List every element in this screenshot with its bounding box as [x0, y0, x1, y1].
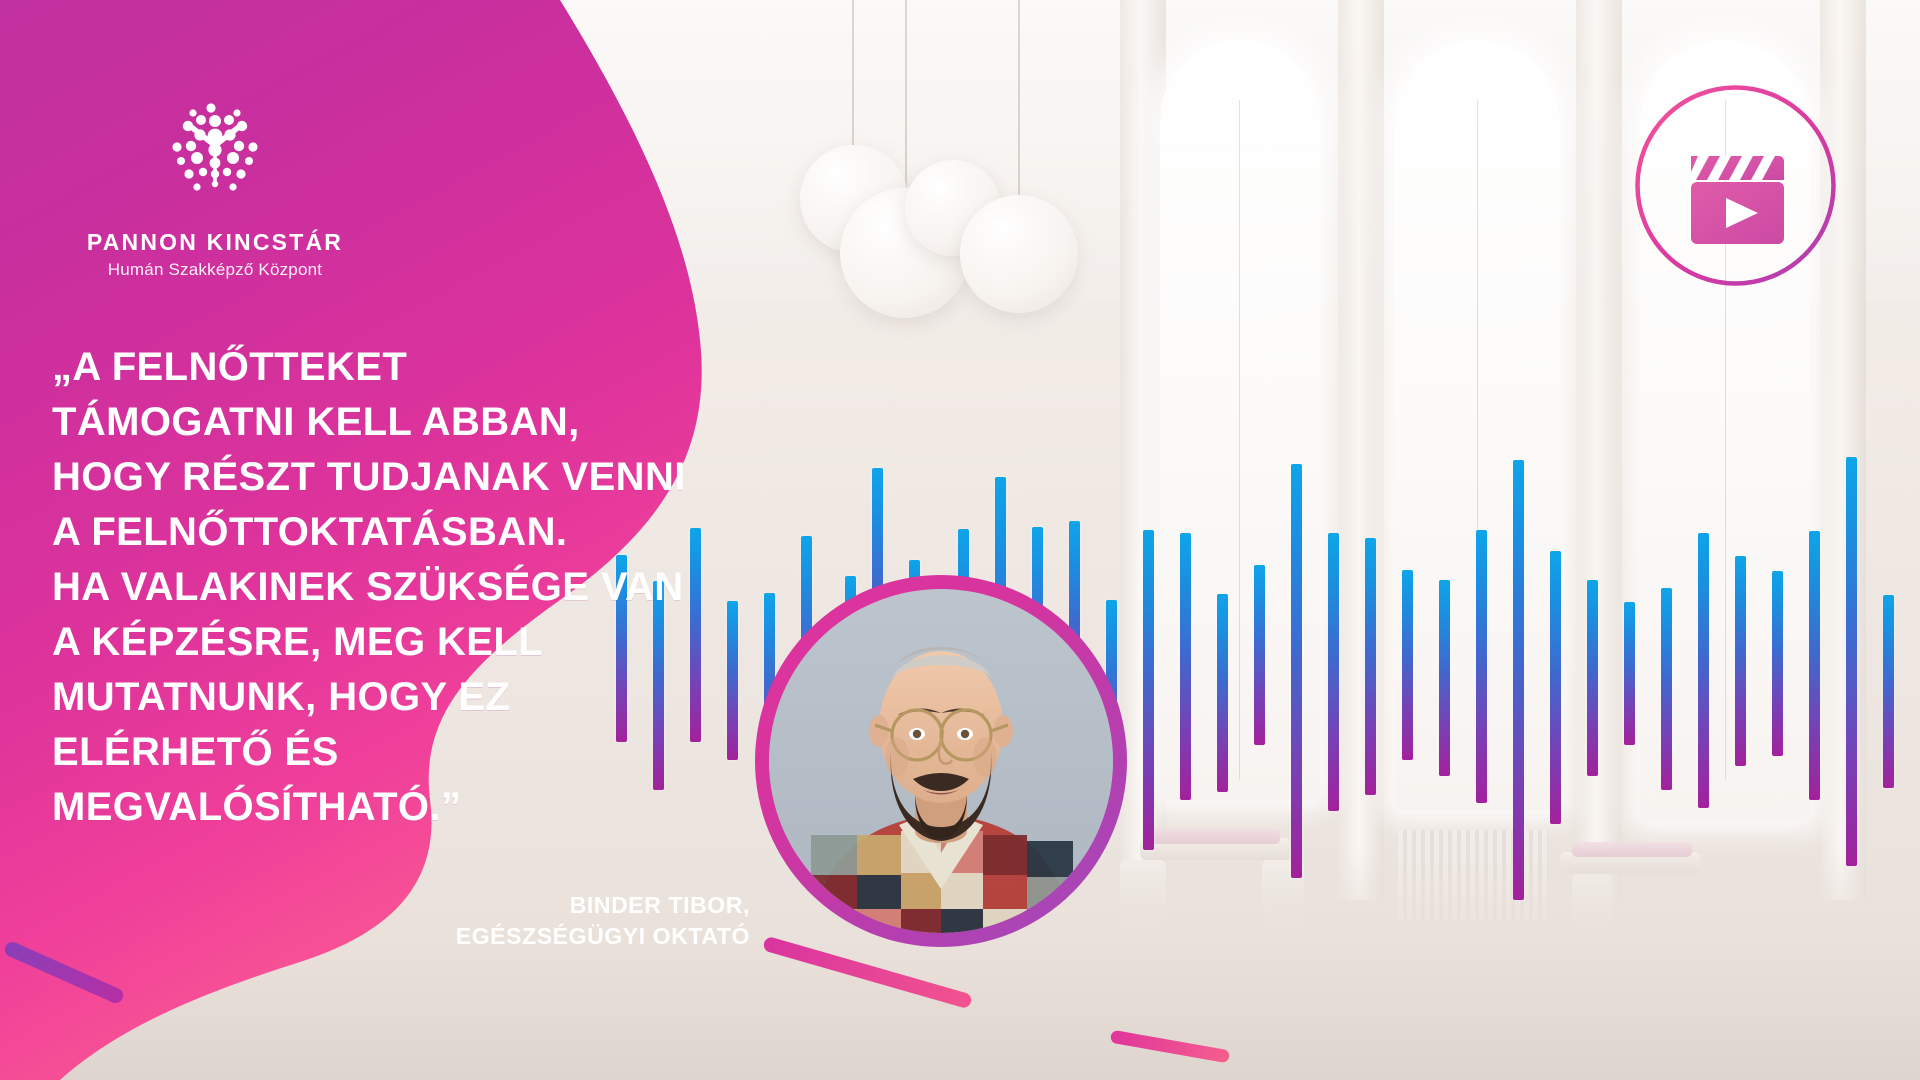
avatar-image-clip	[769, 589, 1113, 933]
waveform-bar	[1143, 530, 1154, 850]
waveform-bar	[1661, 588, 1672, 790]
quote-line: MEGVALÓSÍTHATÓ.”	[52, 780, 812, 835]
quote-line: A FELNŐTTOKTATÁSBAN.	[52, 505, 812, 560]
waveform-bar	[1883, 595, 1894, 788]
quote-line: TÁMOGATNI KELL ABBAN,	[52, 395, 812, 450]
quote-line: HOGY RÉSZT TUDJANAK VENNI	[52, 450, 812, 505]
video-badge[interactable]	[1628, 78, 1843, 293]
speaker-name: BINDER TIBOR,	[330, 890, 750, 921]
waveform-bar	[1291, 464, 1302, 878]
waveform-bar	[1809, 531, 1820, 800]
dandelion-tree-dots-logo-icon	[155, 95, 275, 215]
avatar	[755, 575, 1127, 947]
quote-line: „A FELNŐTTEKET	[52, 340, 812, 395]
presentation-slide: PANNON KINCSTÁR Humán Szakképző Központ …	[0, 0, 1920, 1080]
waveform-bar	[1365, 538, 1376, 795]
waveform-bar	[1587, 580, 1598, 776]
waveform-bar	[1402, 570, 1413, 760]
quote-text: „A FELNŐTTEKETTÁMOGATNI KELL ABBAN,HOGY …	[52, 340, 812, 835]
waveform-bar	[1772, 571, 1783, 756]
waveform-bar	[1328, 533, 1339, 811]
waveform-bar	[1439, 580, 1450, 776]
waveform-bar	[1217, 594, 1228, 792]
waveform-bar	[1698, 533, 1709, 808]
clapperboard-play-icon	[1691, 156, 1784, 244]
waveform-bar	[1624, 602, 1635, 745]
speaker-role: EGÉSZSÉGÜGYI OKTATÓ	[330, 921, 750, 952]
brand-name: PANNON KINCSTÁR	[60, 229, 370, 256]
quote-attribution: BINDER TIBOR, EGÉSZSÉGÜGYI OKTATÓ	[330, 890, 750, 952]
waveform-bar	[1254, 565, 1265, 745]
waveform-bar	[1735, 556, 1746, 766]
waveform-bar	[1550, 551, 1561, 824]
quote-line: ELÉRHETŐ ÉS	[52, 725, 812, 780]
brand-logo: PANNON KINCSTÁR Humán Szakképző Központ	[60, 95, 370, 280]
waveform-bar	[1180, 533, 1191, 800]
brand-subtitle: Humán Szakképző Központ	[60, 260, 370, 280]
waveform-bar	[1513, 460, 1524, 900]
waveform-bar	[1846, 457, 1857, 866]
quote-line: HA VALAKINEK SZÜKSÉGE VAN	[52, 560, 812, 615]
quote-line: MUTATNUNK, HOGY EZ	[52, 670, 812, 725]
portrait-illustration	[769, 589, 1113, 933]
quote-line: A KÉPZÉSRE, MEG KELL	[52, 615, 812, 670]
waveform-bar	[1476, 530, 1487, 803]
